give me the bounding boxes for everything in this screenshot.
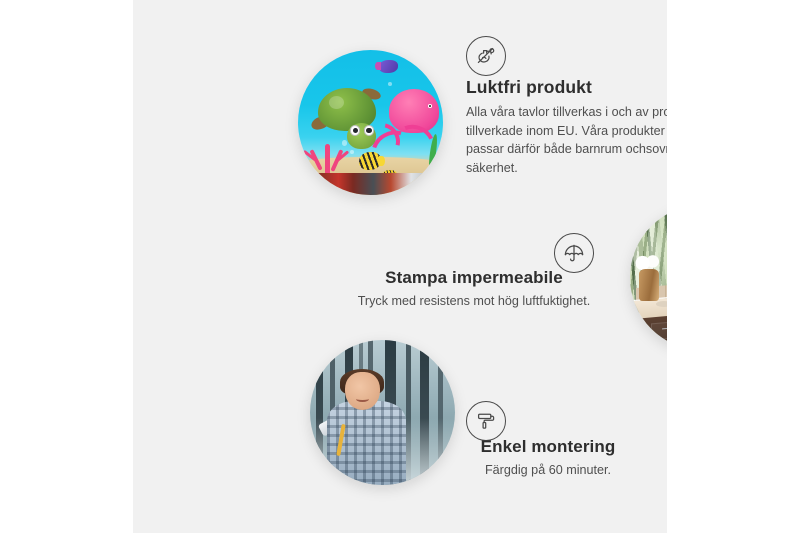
feature-heading: Luktfri produkt <box>466 77 667 98</box>
feature-image-waterproof <box>630 205 667 350</box>
feature-text-odour-free: Luktfri produkt Alla våra tavlor tillver… <box>466 77 667 178</box>
octopus-eye <box>428 104 432 108</box>
feature-text-waterproof: Stampa impermeabile Tryck med resistens … <box>349 268 599 311</box>
striped-fish <box>359 152 381 171</box>
coral <box>307 131 351 175</box>
content-panel: Luktfri produkt Alla våra tavlor tillver… <box>133 0 667 533</box>
room-photo-strip <box>298 173 443 195</box>
cabinet-drawer <box>650 318 667 341</box>
umbrella-icon <box>554 233 594 273</box>
bubble-icon <box>342 140 348 146</box>
feature-image-odour-free <box>298 50 443 195</box>
turtle-eye <box>350 125 360 135</box>
no-fragrance-icon <box>466 36 506 76</box>
person-face <box>345 372 380 410</box>
feature-text-easy-mounting: Enkel montering Färgdig på 60 minuter. <box>458 437 638 480</box>
feature-body: Tryck med resistens mot hög luftfuktighe… <box>349 292 599 311</box>
feature-image-easy-mounting <box>310 340 455 485</box>
soap-dish <box>656 301 667 307</box>
bubble-icon <box>388 82 392 86</box>
vase <box>639 269 659 301</box>
paint-roller-icon <box>466 401 506 441</box>
feature-infographic: Luktfri produkt Alla våra tavlor tillver… <box>0 0 800 533</box>
feature-heading: Stampa impermeabile <box>349 268 599 288</box>
bubble-icon <box>350 150 354 154</box>
feature-body: Alla våra tavlor tillverkas i och av pro… <box>466 103 667 178</box>
turtle-eye <box>364 125 374 135</box>
feature-heading: Enkel montering <box>458 437 638 457</box>
feature-body: Färgdig på 60 minuter. <box>458 461 638 480</box>
